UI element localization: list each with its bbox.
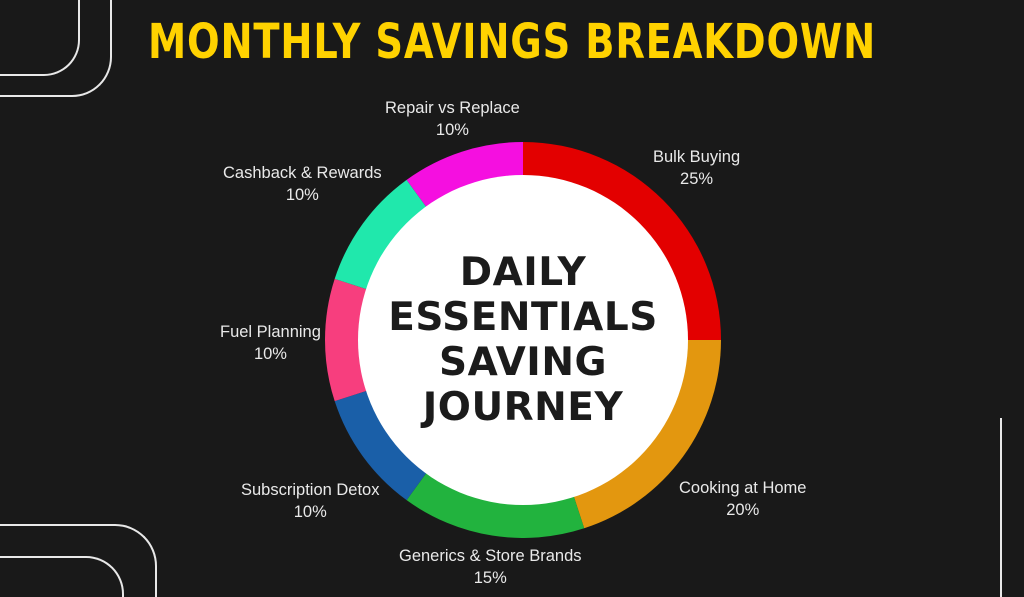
slice-label-repair-vs-replace: Repair vs Replace 10%	[385, 97, 520, 142]
slice-label-text: Cashback & Rewards	[223, 164, 382, 182]
decor-line-bottom-left-inner	[0, 556, 124, 597]
donut-hub	[358, 175, 688, 505]
slice-label-pct: 25%	[653, 168, 740, 190]
decor-line-top-left-inner	[0, 0, 80, 76]
slice-label-text: Generics & Store Brands	[399, 547, 582, 565]
slice-label-pct: 10%	[220, 343, 321, 365]
slice-label-pct: 10%	[241, 501, 380, 523]
slice-label-pct: 15%	[399, 567, 582, 589]
slice-label-text: Subscription Detox	[241, 481, 380, 499]
slice-label-bulk-buying: Bulk Buying 25%	[653, 146, 740, 191]
page-title: MONTHLY SAVINGS BREAKDOWN	[102, 14, 921, 70]
slice-label-pct: 10%	[385, 119, 520, 141]
donut-chart	[325, 142, 721, 538]
decor-line-top-left-outer	[0, 0, 112, 97]
slice-label-text: Repair vs Replace	[385, 99, 520, 117]
infographic-canvas: MONTHLY SAVINGS BREAKDOWN DAILY ESSENTIA…	[0, 0, 1024, 597]
slice-label-cooking-at-home: Cooking at Home 20%	[679, 477, 806, 522]
slice-label-generics-store-brands: Generics & Store Brands 15%	[399, 545, 582, 590]
donut-svg	[325, 142, 721, 538]
slice-label-cashback-rewards: Cashback & Rewards 10%	[223, 162, 382, 207]
slice-label-text: Fuel Planning	[220, 323, 321, 341]
decor-line-right-outer	[1000, 418, 1024, 597]
slice-label-text: Cooking at Home	[679, 479, 806, 497]
slice-label-pct: 10%	[223, 184, 382, 206]
slice-label-fuel-planning: Fuel Planning 10%	[220, 321, 321, 366]
decor-line-bottom-left-outer	[0, 524, 157, 597]
slice-label-subscription-detox: Subscription Detox 10%	[241, 479, 380, 524]
slice-label-text: Bulk Buying	[653, 148, 740, 166]
slice-label-pct: 20%	[679, 499, 806, 521]
